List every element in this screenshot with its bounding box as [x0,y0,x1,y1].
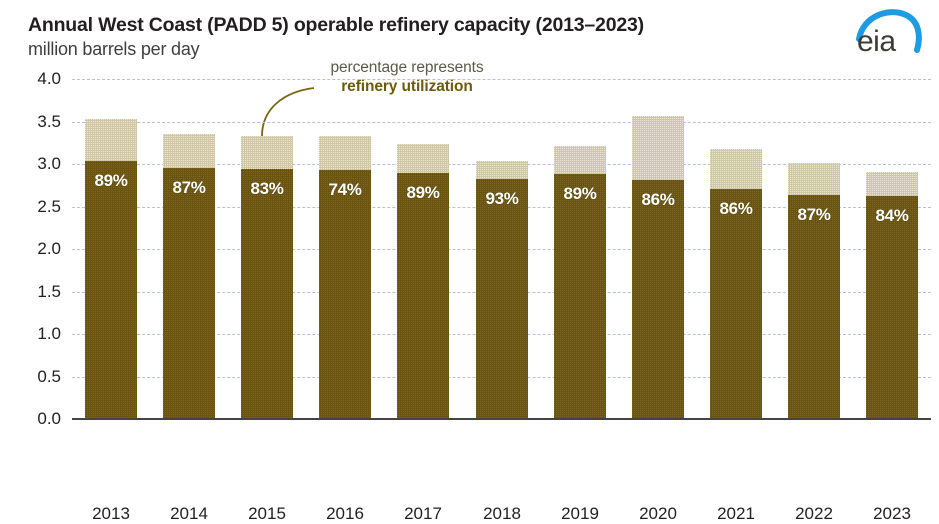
bar-segment-idle-capacity[interactable] [710,149,762,189]
bar-value-label: 83% [241,179,293,199]
bar-segment-utilized-capacity[interactable] [163,168,215,419]
x-axis-tick-label: 2020 [632,504,684,524]
y-axis-tick-label: 3.5 [37,112,61,132]
gridline [72,79,931,80]
bar-value-label: 74% [319,180,371,200]
y-axis-tick-label: 0.5 [37,367,61,387]
x-axis-tick-label: 2018 [476,504,528,524]
x-axis-baseline [72,418,931,420]
bar-segment-utilized-capacity[interactable] [866,196,918,419]
x-axis-tick-label: 2017 [397,504,449,524]
bar-segment-utilized-capacity[interactable] [241,169,293,419]
bar-segment-utilized-capacity[interactable] [710,189,762,419]
bar-segment-idle-capacity[interactable] [163,134,215,168]
gridline [72,122,931,123]
bar-segment-idle-capacity[interactable] [85,119,137,162]
x-axis-tick-label: 2022 [788,504,840,524]
bar-segment-idle-capacity[interactable] [241,136,293,169]
bar-segment-utilized-capacity[interactable] [632,180,684,419]
bar-segment-utilized-capacity[interactable] [319,170,371,419]
bar-value-label: 93% [476,189,528,209]
x-axis-tick-label: 2019 [554,504,606,524]
bar-value-label: 89% [397,183,449,203]
bar-segment-utilized-capacity[interactable] [85,161,137,419]
bar-value-label: 87% [163,178,215,198]
plot-area: 0.00.51.01.52.02.53.03.54.089%201387%201… [72,79,931,419]
x-axis-tick-label: 2016 [319,504,371,524]
x-axis-tick-label: 2021 [710,504,762,524]
bar-value-label: 84% [866,206,918,226]
bar-segment-utilized-capacity[interactable] [788,195,840,419]
bar-segment-idle-capacity[interactable] [554,146,606,174]
bar-segment-idle-capacity[interactable] [788,163,840,195]
bar-value-label: 89% [554,184,606,204]
y-axis-tick-label: 1.0 [37,324,61,344]
bar-segment-utilized-capacity[interactable] [476,179,528,419]
bar-segment-idle-capacity[interactable] [476,161,528,179]
bar-segment-utilized-capacity[interactable] [554,174,606,419]
bar-chart: 0.00.51.01.52.02.53.03.54.089%201387%201… [0,0,939,469]
bar-segment-idle-capacity[interactable] [866,172,918,197]
bar-value-label: 89% [85,171,137,191]
y-axis-tick-label: 3.0 [37,154,61,174]
x-axis-tick-label: 2013 [85,504,137,524]
y-axis-tick-label: 2.0 [37,239,61,259]
x-axis-tick-label: 2023 [866,504,918,524]
bar-value-label: 86% [632,190,684,210]
y-axis-tick-label: 4.0 [37,69,61,89]
bar-segment-utilized-capacity[interactable] [397,173,449,420]
bar-value-label: 87% [788,205,840,225]
y-axis-tick-label: 2.5 [37,197,61,217]
bar-segment-idle-capacity[interactable] [397,144,449,173]
bar-value-label: 86% [710,199,762,219]
y-axis-tick-label: 0.0 [37,409,61,429]
bar-segment-idle-capacity[interactable] [319,136,371,170]
y-axis-tick-label: 1.5 [37,282,61,302]
x-axis-tick-label: 2015 [241,504,293,524]
bar-segment-idle-capacity[interactable] [632,116,684,181]
x-axis-tick-label: 2014 [163,504,215,524]
